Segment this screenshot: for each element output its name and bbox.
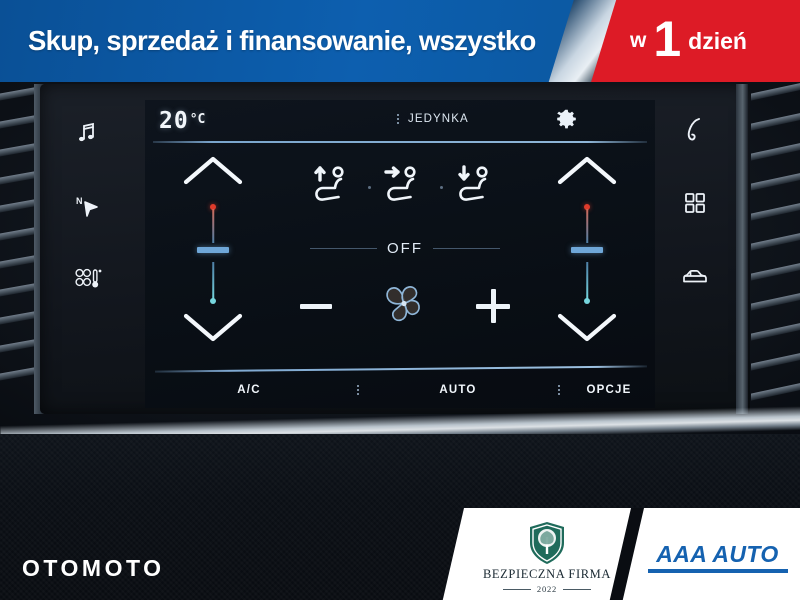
fan-state-label: OFF — [387, 240, 423, 257]
svg-text:N: N — [76, 196, 83, 206]
radio-station[interactable]: JEDYNKA — [397, 113, 469, 125]
screen-bottom-bar: A/C AUTO OPCJE — [145, 372, 655, 408]
bottom-divider-dots — [554, 385, 563, 395]
fan-minus-icon[interactable] — [300, 304, 332, 309]
otomoto-logo: OTOMOTO — [22, 555, 165, 582]
music-note-icon[interactable] — [58, 110, 118, 156]
infotainment-screen: 20°C JEDYNKA — [145, 100, 655, 408]
chevron-up-icon[interactable] — [182, 154, 244, 191]
dealer-name: AAA AUTO — [645, 541, 790, 568]
climate-fan-thermometer-icon[interactable] — [58, 256, 118, 302]
chevron-down-icon[interactable] — [556, 312, 618, 349]
auto-button[interactable]: AUTO — [362, 384, 554, 396]
temperature-cold-marker — [584, 298, 590, 304]
bottom-divider-dots — [353, 385, 362, 395]
footer-bar: OTOMOTO BEZPIECZNA FIRMA 2022 — [0, 508, 800, 600]
mode-separator-dot — [440, 186, 443, 189]
station-divider-dots — [397, 114, 399, 124]
dealer-logo: AAA AUTO — [645, 541, 790, 573]
temperature-track-lower — [212, 262, 214, 300]
gear-icon[interactable] — [555, 108, 578, 136]
trust-badge-title: BEZPIECZNA FIRMA — [472, 567, 622, 582]
trust-badge: BEZPIECZNA FIRMA 2022 — [472, 521, 622, 594]
banner-offer-number: 1 — [653, 18, 681, 61]
outside-temperature: 20°C — [159, 108, 205, 134]
screenshot-root: Skup, sprzedaż i finansowanie, wszystko … — [0, 0, 800, 600]
fan-label-rule-right — [433, 248, 500, 249]
dealer-underline — [648, 569, 788, 573]
banner-offer: w 1 dzień — [630, 0, 747, 82]
screen-header-divider — [153, 141, 647, 143]
banner-headline: Skup, sprzedaż i finansowanie, wszystko — [28, 0, 536, 82]
left-icon-rail: N — [58, 92, 118, 392]
fan-speed-label-row: OFF — [310, 240, 500, 257]
temperature-unit: °C — [190, 112, 206, 127]
temperature-setting-bar[interactable] — [197, 247, 229, 253]
mode-separator-dot — [368, 186, 371, 189]
temperature-value: 20 — [159, 108, 189, 134]
bezel-edge-right — [736, 84, 748, 414]
trust-badge-year: 2022 — [537, 584, 557, 594]
car-icon[interactable] — [665, 254, 725, 300]
station-name: JEDYNKA — [408, 113, 469, 125]
banner-offer-prefix: w — [630, 29, 646, 53]
ac-button[interactable]: A/C — [145, 384, 353, 396]
shield-tree-icon — [528, 521, 566, 565]
promo-banner: Skup, sprzedaż i finansowanie, wszystko … — [0, 0, 800, 82]
fan-blades-icon[interactable] — [373, 273, 435, 340]
fan-plus-icon[interactable] — [476, 289, 510, 323]
air-vent-right — [745, 82, 800, 412]
right-temperature-control[interactable] — [541, 152, 633, 364]
fan-label-rule-left — [310, 248, 377, 249]
temperature-track-lower — [586, 262, 588, 300]
chevron-down-icon[interactable] — [182, 312, 244, 349]
trust-badge-year-row: 2022 — [472, 584, 622, 594]
options-button[interactable]: OPCJE — [563, 384, 655, 396]
airflow-mode-row — [310, 158, 500, 216]
phone-icon[interactable] — [665, 106, 725, 152]
fan-control-row — [300, 272, 510, 340]
right-icon-rail — [665, 92, 725, 392]
chevron-up-icon[interactable] — [556, 154, 618, 191]
banner-offer-suffix: dzień — [688, 28, 747, 55]
navigation-compass-icon[interactable]: N — [58, 184, 118, 230]
apps-grid-icon[interactable] — [665, 180, 725, 226]
seat-arrow-right-icon[interactable] — [382, 163, 428, 212]
seat-arrow-up-icon[interactable] — [310, 163, 356, 212]
temperature-track-upper — [586, 209, 588, 243]
screen-header: 20°C JEDYNKA — [145, 100, 655, 140]
left-temperature-control[interactable] — [167, 152, 259, 364]
temperature-track-upper — [212, 209, 214, 243]
temperature-cold-marker — [210, 298, 216, 304]
temperature-setting-bar[interactable] — [571, 247, 603, 253]
seat-arrow-down-icon[interactable] — [454, 163, 500, 212]
